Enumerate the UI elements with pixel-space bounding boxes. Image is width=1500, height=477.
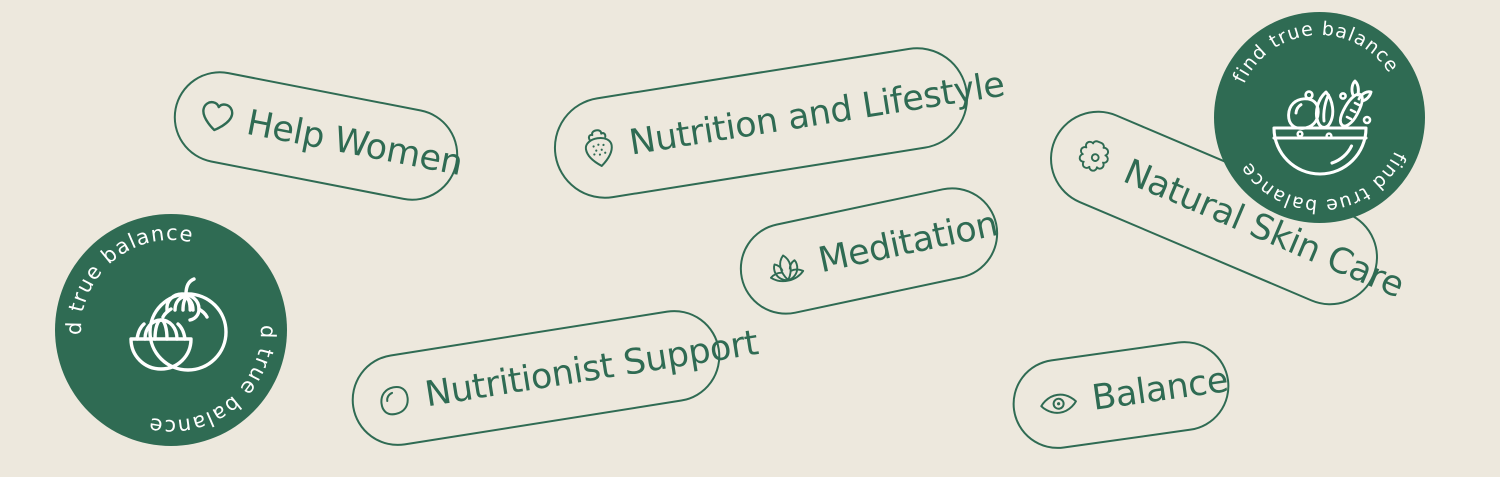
badge-text-bottom: find true balance (1235, 148, 1410, 217)
lotus-icon (763, 249, 809, 289)
tag-pill-balance[interactable]: Balance (1007, 335, 1235, 454)
badge-text-top: find true balance (1229, 18, 1404, 87)
strawberry-icon (579, 126, 619, 171)
flower-icon (1070, 133, 1120, 183)
badge-text-bottom: find true balance (55, 214, 280, 439)
tag-label: Help Women (244, 105, 465, 181)
eye-icon (1037, 388, 1080, 419)
heart-icon (197, 98, 236, 136)
tag-pill-nutrition-and-lifestyle[interactable]: Nutrition and Lifestyle (547, 40, 976, 206)
tag-label: Meditation (815, 207, 1000, 279)
circular-badge-find-true-balance-right[interactable]: find true balance find true balance (1214, 12, 1425, 223)
circular-badge-find-true-balance-left[interactable]: find true balance find true balance (55, 214, 287, 446)
sticker-collage-canvas: Help Women Nutrition and Lifestyle (0, 0, 1500, 477)
badge-text-top: find true balance (55, 214, 196, 335)
tag-label: Balance (1090, 363, 1230, 417)
tag-pill-nutritionist-support[interactable]: Nutritionist Support (345, 303, 727, 452)
tag-pill-help-women[interactable]: Help Women (166, 63, 466, 208)
tag-label: Nutritionist Support (423, 326, 761, 413)
mangosteen-fruit-icon (131, 279, 226, 370)
salad-bowl-icon (1274, 81, 1371, 174)
lemon-icon (375, 381, 414, 420)
tag-label: Nutrition and Lifestyle (627, 67, 1007, 161)
tag-pill-meditation[interactable]: Meditation (731, 179, 1006, 323)
